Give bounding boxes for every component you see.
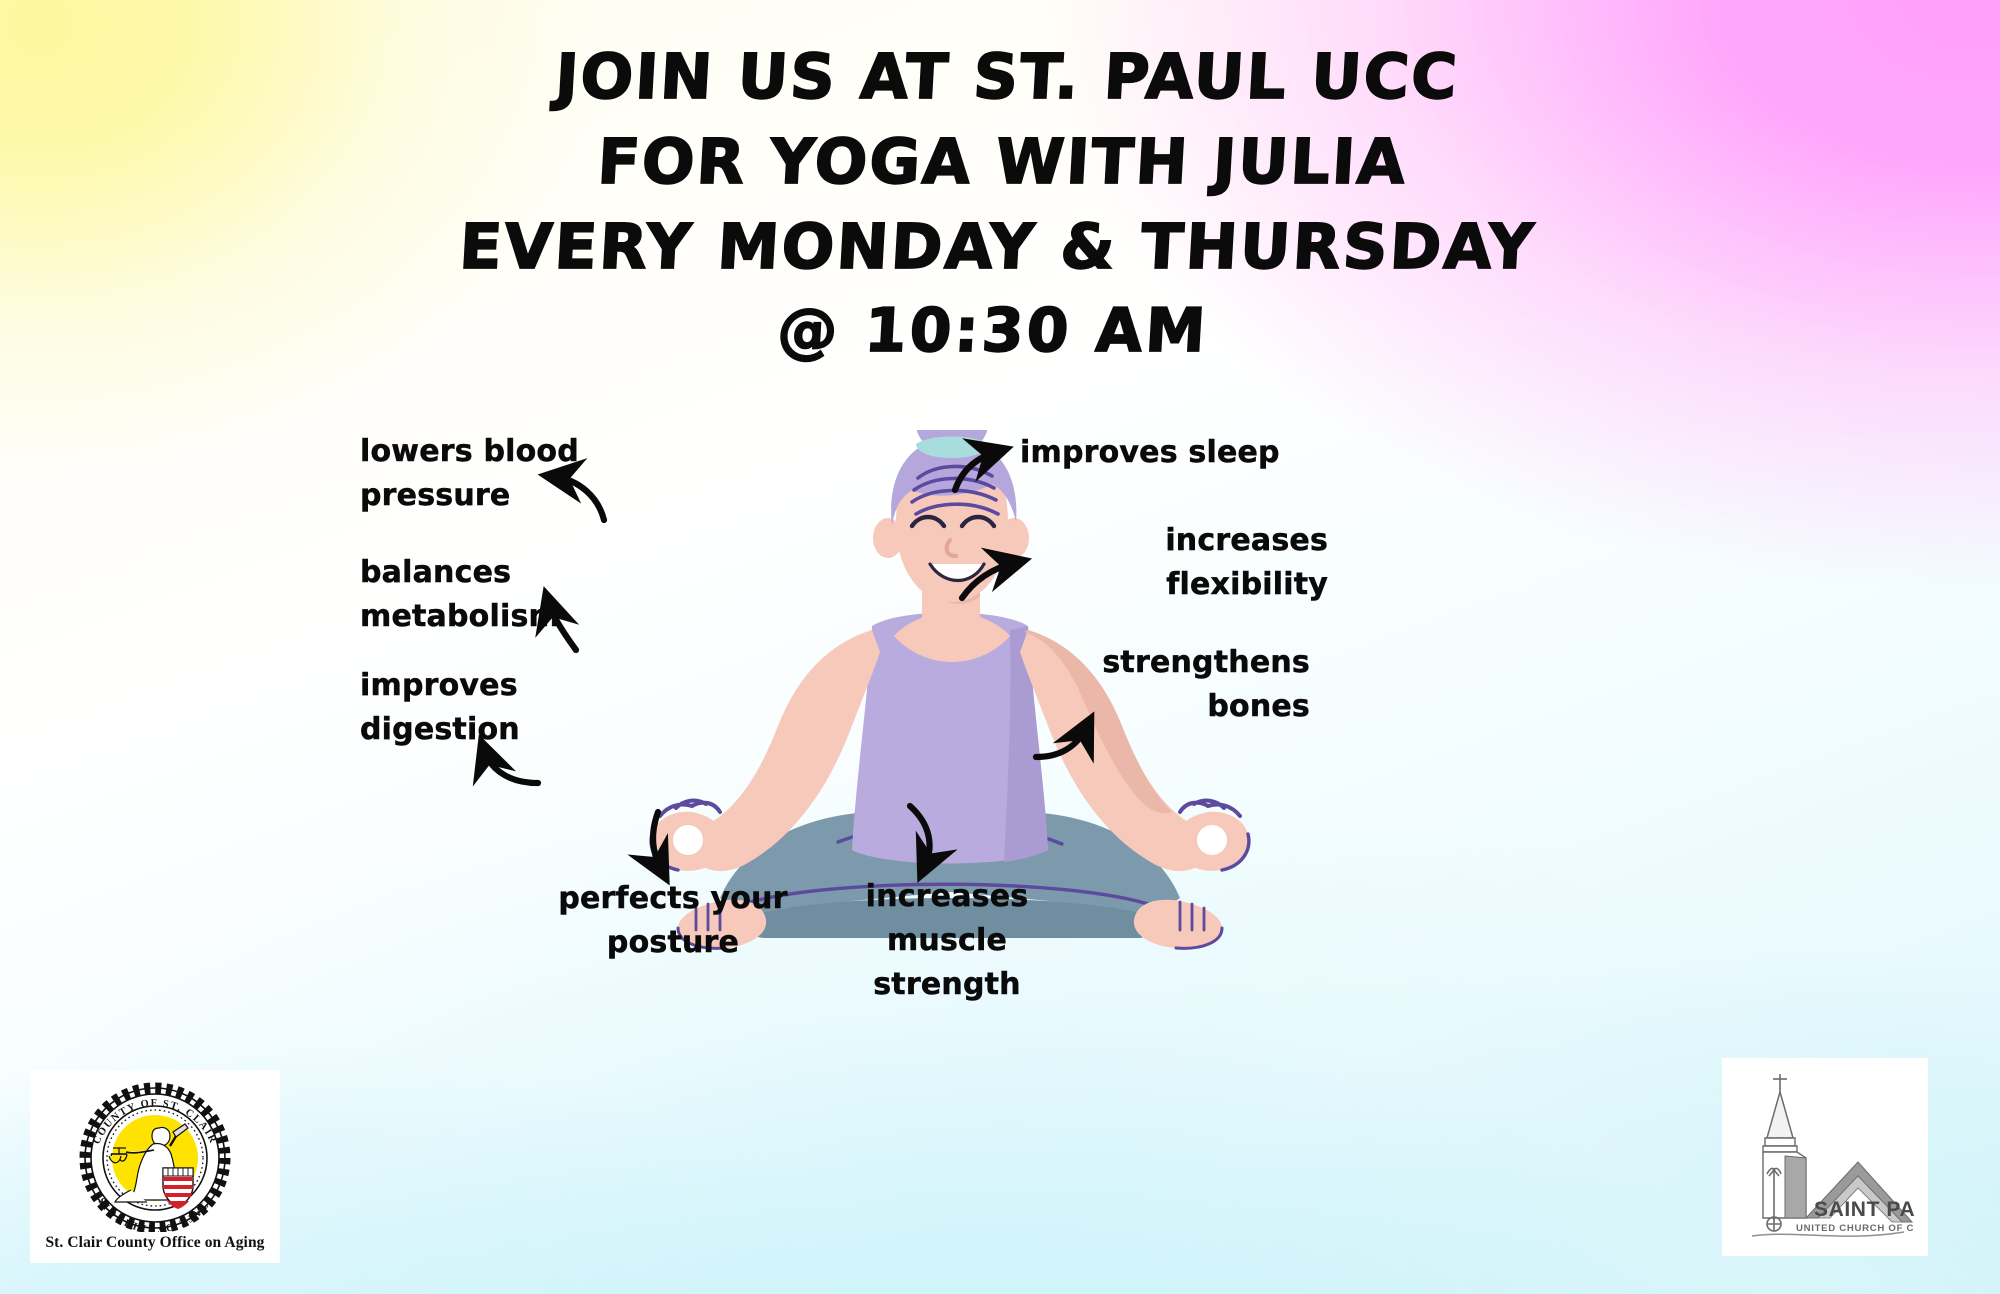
st-clair-county-caption: St. Clair County Office on Aging bbox=[45, 1234, 264, 1252]
benefit-label-improves-sleep: improves sleep bbox=[1020, 431, 1280, 475]
hand-left bbox=[651, 801, 725, 871]
headline-line-2: for Yoga with Julia bbox=[0, 119, 2000, 204]
saint-paul-subtitle: UNITED CHURCH OF CHRIST bbox=[1796, 1223, 1914, 1234]
benefit-label-perfects-your-posture: perfects your posture bbox=[558, 877, 788, 965]
benefit-label-improves-digestion: improves digestion bbox=[360, 664, 590, 752]
hand-right bbox=[1175, 801, 1249, 871]
headline-line-1: Join us at St. Paul UCC bbox=[5, 34, 2000, 119]
st-clair-county-logo-card: COUNTY OF ST. CLAIR STATE OF ILLINOIS bbox=[30, 1070, 280, 1263]
headline-line-3: Every Monday & Thursday bbox=[0, 204, 2000, 289]
benefit-label-lowers-blood-pressure: lowers blood pressure bbox=[360, 430, 590, 518]
poster-canvas: Join us at St. Paul UCC for Yoga with Ju… bbox=[0, 0, 2000, 1294]
foot-right bbox=[1134, 900, 1222, 949]
saint-paul-title: SAINT PAUL bbox=[1814, 1198, 1914, 1221]
benefit-label-increases-muscle-strength: increases muscle strength bbox=[812, 875, 1082, 1007]
church-steeple bbox=[1763, 1074, 1797, 1152]
church-tower-shade bbox=[1785, 1156, 1806, 1218]
arrow-improves-digestion bbox=[485, 752, 538, 783]
headline-line-4: @ 10:30 AM bbox=[0, 289, 1995, 374]
benefit-label-increases-flexibility: increases flexibility bbox=[1088, 519, 1328, 607]
benefit-label-strengthens-bones: strengthens bones bbox=[1050, 641, 1310, 729]
benefit-label-balances-metabolism: balances metabolism bbox=[360, 551, 590, 639]
page-title: Join us at St. Paul UCC for Yoga with Ju… bbox=[0, 34, 2000, 374]
st-clair-county-seal-icon: COUNTY OF ST. CLAIR STATE OF ILLINOIS bbox=[71, 1082, 239, 1232]
saint-paul-ucc-logo-card: SAINT PAUL UNITED CHURCH OF CHRIST bbox=[1722, 1058, 1928, 1256]
saint-paul-ucc-icon: SAINT PAUL UNITED CHURCH OF CHRIST bbox=[1736, 1066, 1914, 1248]
